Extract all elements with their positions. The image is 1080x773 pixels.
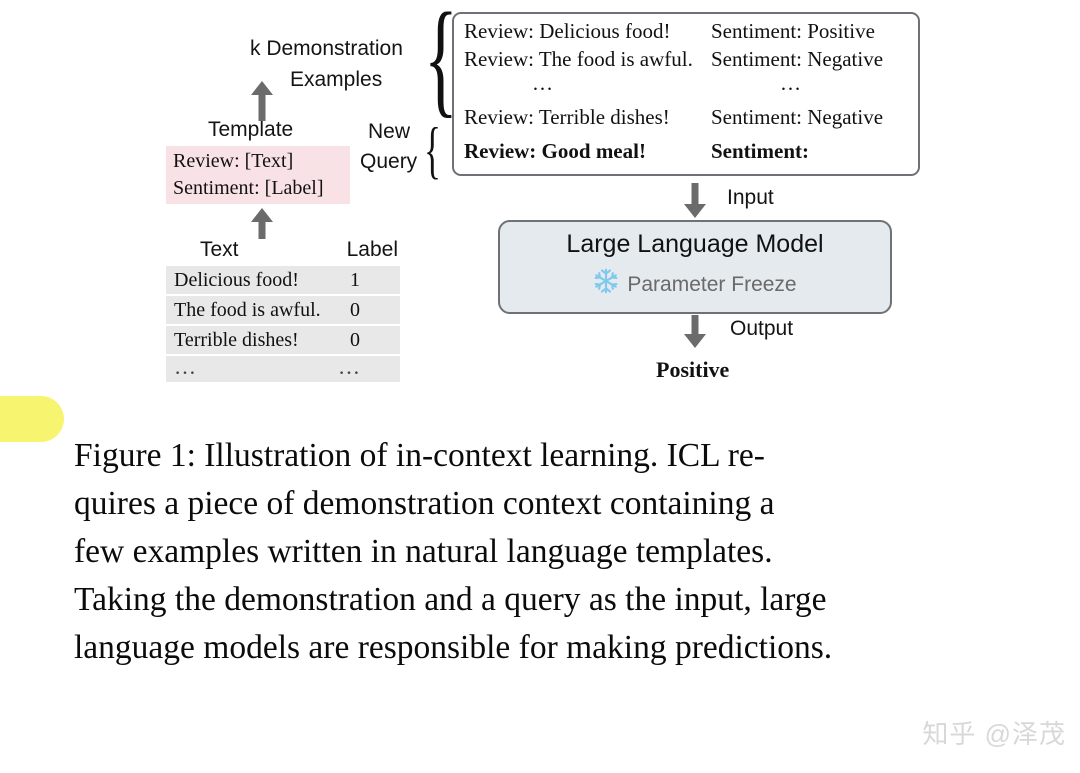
prompt-sentiment-text: Sentiment: Negative [711, 102, 883, 132]
output-label: Output [730, 317, 793, 341]
table-cell-text-ellipsis: … [174, 354, 198, 380]
large-language-model-box: Large Language Model Parameter Freeze [498, 220, 892, 314]
prompt-review-text: Review: Delicious food! [464, 16, 670, 46]
input-label: Input [727, 186, 774, 210]
prompt-row-ellipsis: … … [464, 68, 912, 98]
prompt-query-row: Review: Good meal! Sentiment: [464, 136, 912, 166]
prompt-sentiment-ellipsis: … [780, 68, 804, 98]
llm-subtitle: Parameter Freeze [627, 273, 796, 296]
table-cell-text: The food is awful. [174, 299, 321, 322]
table-cell-label: 1 [350, 269, 360, 292]
llm-subtitle-wrap: Parameter Freeze [500, 268, 890, 300]
table-header-label: Label [347, 238, 398, 262]
table-row: Delicious food! 1 [166, 266, 400, 294]
output-prediction-word: Positive [656, 357, 729, 383]
new-query-label-line1: New [368, 120, 410, 144]
prompt-review-ellipsis: … [532, 68, 556, 98]
k-demonstration-label-line2: Examples [290, 68, 382, 92]
caption-line: Taking the demonstration and a query as … [74, 576, 972, 624]
figure-caption: Figure 1: Illustration of in-context lea… [74, 432, 972, 672]
table-cell-text: Delicious food! [174, 269, 299, 292]
caption-line: Figure 1: Illustration of in-context lea… [74, 432, 972, 480]
table-cell-label: 0 [350, 329, 360, 352]
k-demonstration-label-line1: k Demonstration [250, 37, 403, 61]
data-table: Text Label Delicious food! 1 The food is… [166, 238, 400, 384]
caption-line: language models are responsible for maki… [74, 624, 972, 672]
query-brace: { [424, 118, 441, 182]
snowflake-icon [593, 268, 619, 300]
prompt-sentiment-text: Sentiment: Positive [711, 16, 875, 46]
table-row: The food is awful. 0 [166, 296, 400, 324]
yellow-highlight-mark [0, 396, 64, 442]
prompt-row: Review: Delicious food! Sentiment: Posit… [464, 16, 912, 46]
table-header-text: Text [200, 238, 239, 262]
prompt-query-sentiment-text: Sentiment: [711, 136, 809, 166]
caption-line: quires a piece of demonstration context … [74, 480, 972, 528]
prompt-query-review-text: Review: Good meal! [464, 136, 646, 166]
zhihu-watermark: 知乎 @泽茂 [922, 714, 1066, 751]
table-header-row: Text Label [166, 238, 400, 266]
table-cell-text: Terrible dishes! [174, 329, 299, 352]
arrow-down-input [676, 182, 714, 225]
llm-title: Large Language Model [500, 230, 890, 259]
new-query-label-line2: Query [360, 150, 417, 174]
arrow-down-output [676, 314, 714, 355]
template-pink-box: Review: [Text] Sentiment: [Label] [166, 146, 350, 204]
prompt-row: Review: Terrible dishes! Sentiment: Nega… [464, 102, 912, 132]
template-line-review: Review: [Text] [173, 147, 293, 175]
table-row: Terrible dishes! 0 [166, 326, 400, 354]
table-cell-label: 0 [350, 299, 360, 322]
caption-line: few examples written in natural language… [74, 528, 972, 576]
prompt-review-text: Review: Terrible dishes! [464, 102, 670, 132]
table-cell-label-ellipsis: … [338, 354, 362, 380]
arrow-up-template-to-examples [243, 78, 281, 127]
table-row-ellipsis: … … [166, 356, 400, 382]
demonstration-prompt-box: Review: Delicious food! Sentiment: Posit… [452, 12, 920, 176]
template-line-sentiment: Sentiment: [Label] [173, 174, 324, 202]
